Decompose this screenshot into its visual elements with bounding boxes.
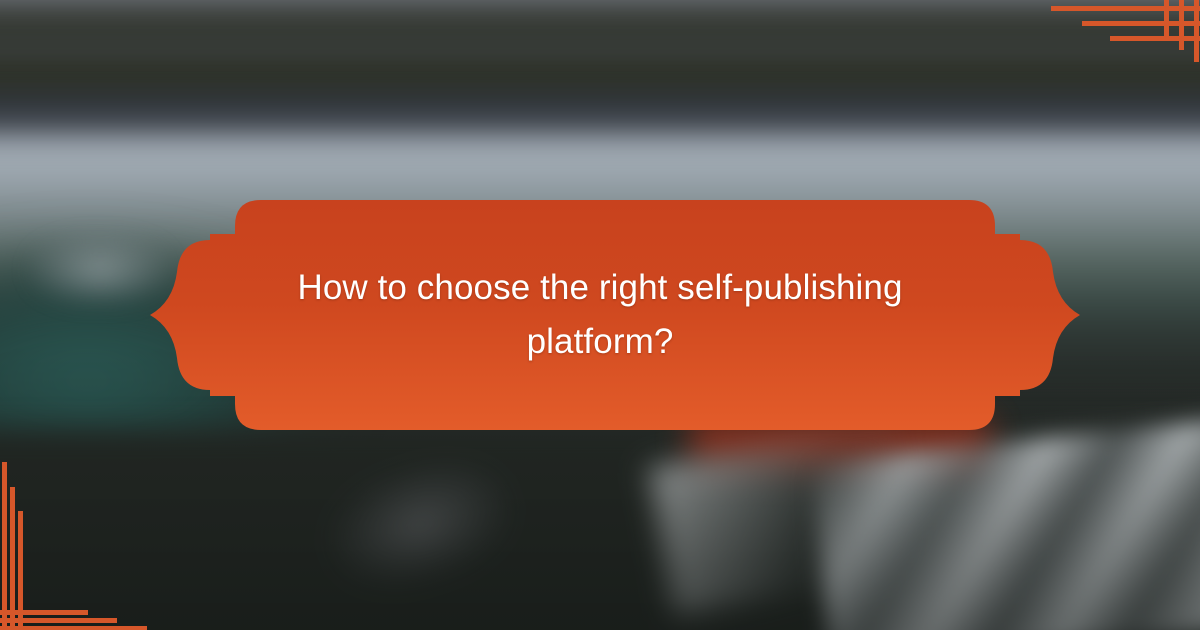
corner-rule-v-2 bbox=[1179, 0, 1184, 50]
share-card: How to choose the right self-publishing … bbox=[0, 0, 1200, 630]
corner-rule-v-6 bbox=[18, 511, 23, 630]
headline-text: How to choose the right self-publishing … bbox=[255, 190, 945, 440]
corner-rule-v-5 bbox=[10, 487, 15, 630]
corner-rule-h-3 bbox=[1110, 36, 1200, 41]
corner-rule-v-1 bbox=[1194, 0, 1199, 62]
corner-rule-v-4 bbox=[2, 462, 7, 630]
corner-rule-v-3 bbox=[1164, 0, 1169, 38]
headline-badge: How to choose the right self-publishing … bbox=[105, 190, 1095, 440]
corner-rule-h-1 bbox=[1051, 6, 1200, 11]
